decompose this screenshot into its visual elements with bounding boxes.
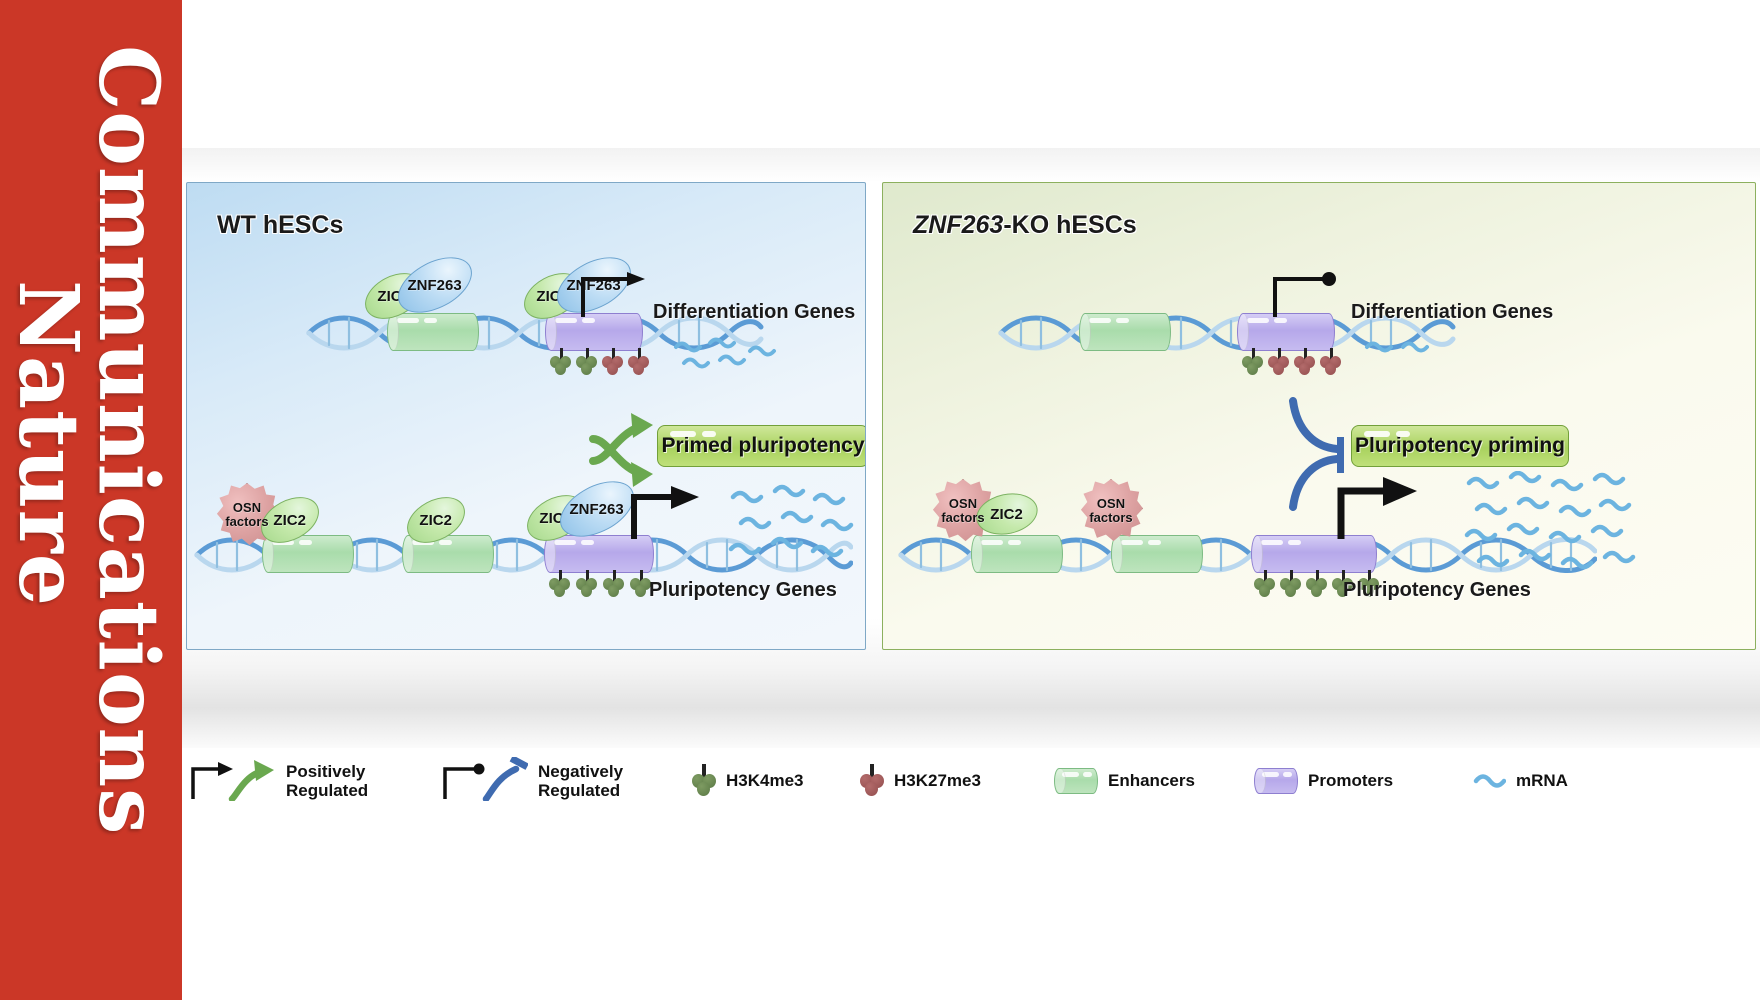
wt-top-mark-h3k4me3-1 bbox=[551, 348, 571, 376]
wt-bottom-mrna bbox=[727, 483, 857, 569]
wt-top-mark-h3k4me3-2 bbox=[577, 348, 597, 376]
legend-item-h3k4me3: H3K4me3 bbox=[692, 764, 804, 798]
legend-item-promoters: Promoters bbox=[1254, 768, 1393, 794]
wt-bottom-mark-h3k4me3-3 bbox=[604, 570, 624, 598]
ko-top-mrna bbox=[1361, 333, 1451, 363]
ko-bottom-gene-label: Pluripotency Genes bbox=[1343, 579, 1531, 602]
legend-item-enhancers: Enhancers bbox=[1054, 768, 1195, 794]
ko-outcome-label: Pluripotency priming bbox=[1355, 434, 1565, 458]
legend-label: Enhancers bbox=[1108, 771, 1195, 790]
wt-top-mark-h3k27me3-1 bbox=[603, 348, 623, 376]
osn-label: OSN factors bbox=[931, 497, 995, 524]
ko-top-mark-h3k27me3-3 bbox=[1321, 348, 1341, 376]
wt-bottom-transcription-arrow bbox=[629, 485, 705, 541]
ko-top-mark-h3k27me3-2 bbox=[1295, 348, 1315, 376]
panel-ko-title: ZNF263-KO hESCs bbox=[913, 211, 1137, 240]
cylinder-green-icon bbox=[1054, 768, 1098, 794]
ko-top-enhancer bbox=[1079, 313, 1171, 351]
wt-top-mrna bbox=[670, 333, 780, 373]
ko-outcome-box: Pluripotency priming bbox=[1351, 425, 1569, 467]
wt-bottom-gene-label: Pluripotency Genes bbox=[649, 579, 837, 602]
ko-top-mark-h3k27me3-1 bbox=[1269, 348, 1289, 376]
legend-label: Positively Regulated bbox=[286, 762, 368, 800]
wt-bottom-mark-h3k4me3-1 bbox=[550, 570, 570, 598]
legend-item-mrna: mRNA bbox=[1472, 769, 1568, 794]
ko-bottom-mrna bbox=[1463, 471, 1643, 575]
ko-bottom-transcription-arrow bbox=[1335, 477, 1421, 541]
legend-item-h3k27me3: H3K27me3 bbox=[860, 764, 981, 798]
tf-label: ZIC2 bbox=[420, 511, 453, 528]
panel-ko-title-rest: -KO hESCs bbox=[1003, 211, 1136, 239]
ko-bottom-osn-factors-1: OSN factors bbox=[931, 479, 995, 543]
osn-label: OSN factors bbox=[1079, 497, 1143, 524]
panel-ko-title-gene: ZNF263 bbox=[913, 211, 1003, 239]
wt-bottom-mark-h3k4me3-2 bbox=[577, 570, 597, 598]
legend-label: H3K27me3 bbox=[894, 771, 981, 790]
ko-bottom-mark-h3k4me3-3 bbox=[1307, 570, 1327, 598]
ko-bottom-mark-h3k4me3-2 bbox=[1281, 570, 1301, 598]
legend-label: Promoters bbox=[1308, 771, 1393, 790]
ko-bottom-mark-h3k4me3-1 bbox=[1255, 570, 1275, 598]
tf-label: ZIC2 bbox=[991, 505, 1024, 522]
ko-top-gene-label: Differentiation Genes bbox=[1351, 301, 1553, 324]
wt-outcome-label: Primed pluripotency bbox=[661, 434, 864, 458]
ko-top-repressed-arrow bbox=[1271, 271, 1343, 319]
tf-label: ZNF263 bbox=[408, 277, 462, 294]
ko-top-mark-h3k4me3-1 bbox=[1243, 348, 1263, 376]
wt-top-mark-h3k27me3-2 bbox=[629, 348, 649, 376]
legend-label: H3K4me3 bbox=[726, 771, 804, 790]
figure-legend: Positively Regulated Negatively Regulate… bbox=[182, 748, 1760, 814]
panel-znf263-ko-hescs: ZNF263-KO hESCs bbox=[882, 182, 1756, 650]
ko-bottom-osn-factors-2: OSN factors bbox=[1079, 479, 1143, 543]
figure-canvas: WT hESCs bbox=[182, 0, 1760, 1000]
journal-name-communications: Communications bbox=[80, 45, 176, 835]
bent-arrow-green-icon bbox=[188, 757, 276, 806]
wt-top-enhancer bbox=[387, 313, 479, 351]
panel-wt-hescs: WT hESCs bbox=[186, 182, 866, 650]
histone-mark-green-icon bbox=[692, 764, 716, 798]
wt-bottom-mark-h3k4me3-4 bbox=[631, 570, 651, 598]
legend-item-positively-regulated: Positively Regulated bbox=[188, 757, 368, 806]
bent-bar-blue-icon bbox=[440, 757, 528, 806]
tf-label: ZNF263 bbox=[570, 501, 624, 518]
squiggle-blue-icon bbox=[1472, 769, 1506, 794]
wt-outcome-box: Primed pluripotency bbox=[657, 425, 866, 467]
panel-wt-title: WT hESCs bbox=[217, 211, 343, 240]
cylinder-purple-icon bbox=[1254, 768, 1298, 794]
journal-spine: Nature Communications bbox=[0, 0, 182, 1000]
legend-label: mRNA bbox=[1516, 771, 1568, 790]
histone-mark-red-icon bbox=[860, 764, 884, 798]
legend-label: Negatively Regulated bbox=[538, 762, 623, 800]
wt-top-transcription-arrow bbox=[579, 271, 651, 319]
osn-label: OSN factors bbox=[215, 501, 279, 528]
wt-top-gene-label: Differentiation Genes bbox=[653, 301, 855, 324]
legend-item-negatively-regulated: Negatively Regulated bbox=[440, 757, 623, 806]
